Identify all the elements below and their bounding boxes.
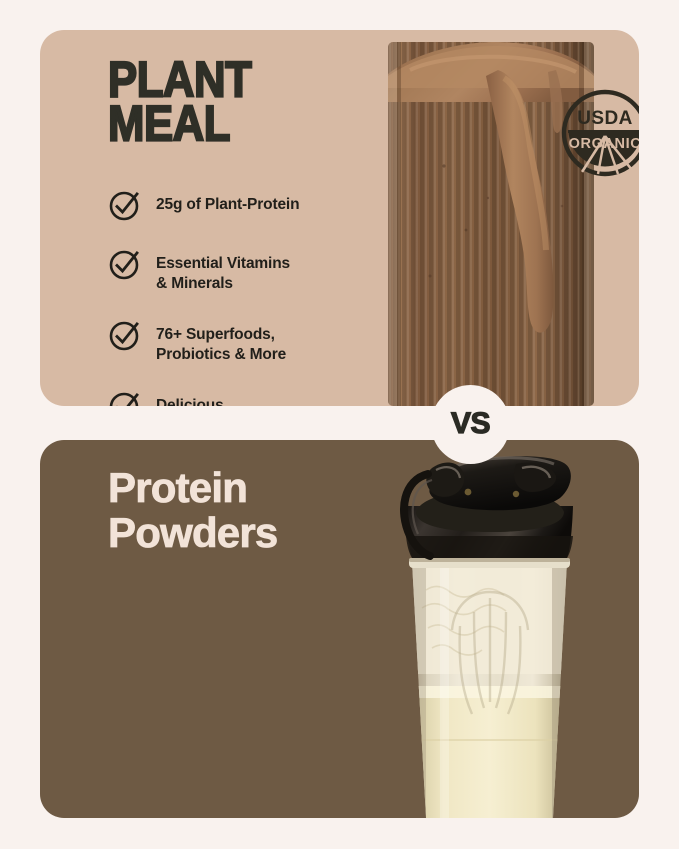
protein-shaker-bottle-photo (340, 440, 639, 818)
feature-item-vitamins: Essential Vitamins & Minerals (108, 249, 299, 293)
plant-meal-heading: PLANT MEAL (108, 56, 262, 143)
check-circle-icon (108, 318, 142, 352)
plant-meal-panel: PLANT MEAL (40, 30, 639, 406)
check-circle-icon (108, 389, 142, 406)
protein-powders-heading: Protein Powders (108, 466, 277, 555)
vs-badge: VS (431, 385, 510, 464)
plant-meal-feature-list: 25g of Plant-Protein Essential Vitamins … (108, 190, 299, 406)
protein-powders-panel: Protein Powders High in Protein (40, 440, 639, 818)
protein-powders-title-line2: Powders (108, 511, 277, 556)
usda-organic-seal: USDA ORGANIC (558, 86, 639, 180)
vs-label: VS (451, 407, 490, 441)
comparison-infographic: PLANT MEAL (0, 0, 679, 849)
feature-item-protein: 25g of Plant-Protein (108, 190, 299, 222)
usda-seal-bottom-text: ORGANIC (569, 136, 639, 152)
feature-item-delicious: Delicious (108, 391, 299, 406)
check-circle-icon (108, 247, 142, 281)
usda-seal-top-text: USDA (577, 108, 632, 129)
plant-meal-title-line2: MEAL (108, 100, 251, 146)
check-circle-icon (108, 188, 142, 222)
protein-powders-title-line1: Protein (108, 466, 277, 511)
feature-label: Essential Vitamins & Minerals (156, 249, 290, 293)
feature-label: Delicious (156, 391, 224, 406)
feature-label: 76+ Superfoods, Probiotics & More (156, 320, 286, 364)
feature-item-superfoods: 76+ Superfoods, Probiotics & More (108, 320, 299, 364)
feature-label: 25g of Plant-Protein (156, 190, 299, 215)
